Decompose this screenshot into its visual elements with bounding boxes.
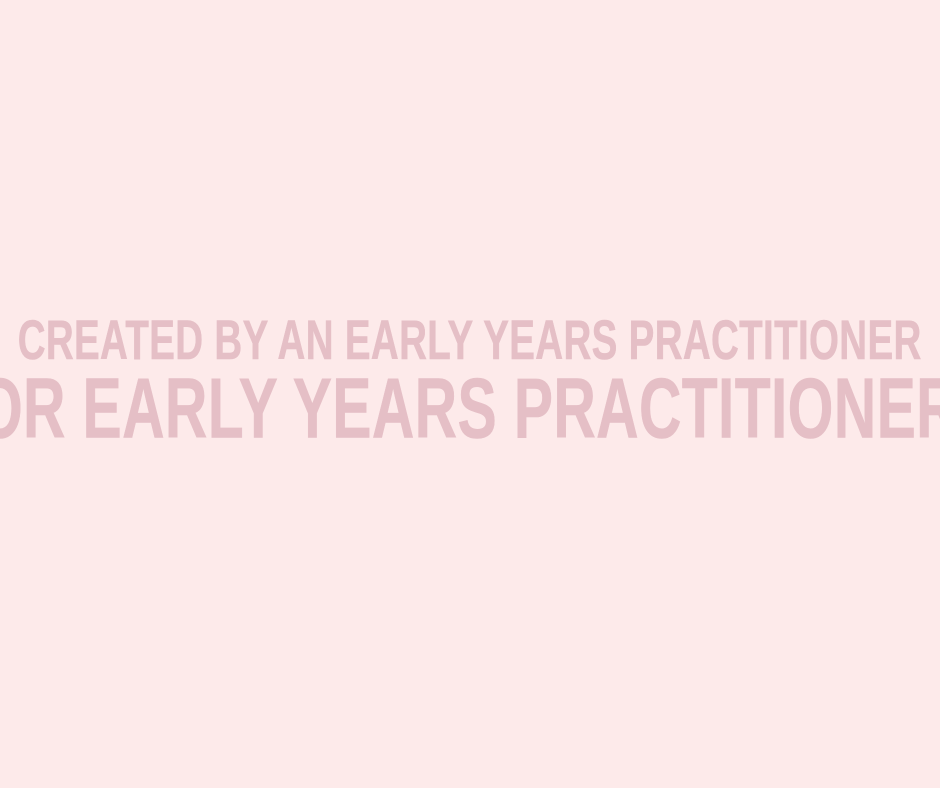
headline-line-secondary: For Early Years Practitioners [0,365,940,451]
poster-canvas: Created by an Early Years Practitioner F… [0,0,940,788]
headline-block: Created by an Early Years Practitioner F… [0,312,940,449]
